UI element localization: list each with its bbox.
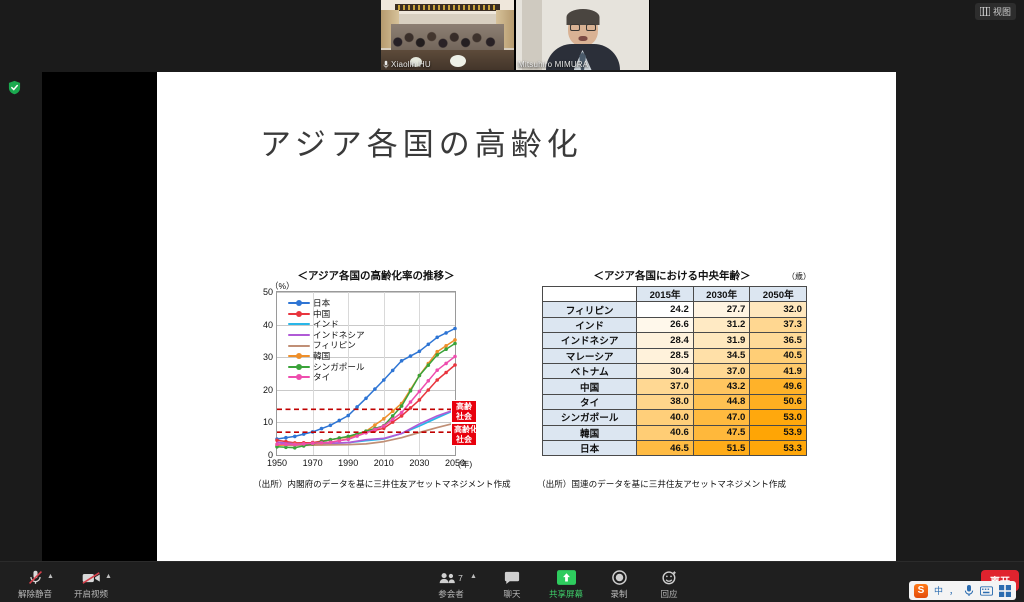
table-col-header: 2015年 bbox=[637, 287, 694, 302]
table-cell-value: 38.0 bbox=[637, 394, 694, 409]
table-cell-value: 34.5 bbox=[693, 348, 750, 363]
aging-rate-chart: ＜アジア各国の高齢化率の推移＞ （%） 01020304050195019701… bbox=[253, 268, 468, 503]
table-unit-label: （歳） bbox=[787, 271, 811, 282]
table-cell-value: 53.0 bbox=[750, 410, 807, 425]
mic-icon[interactable] bbox=[964, 584, 974, 597]
chart-marker bbox=[444, 347, 448, 351]
chart-marker bbox=[435, 368, 439, 372]
table-cell-value: 43.2 bbox=[693, 379, 750, 394]
mic-muted-icon bbox=[383, 60, 389, 69]
chart-marker bbox=[435, 353, 439, 357]
video-tile-0[interactable]: Xiaolin HU bbox=[381, 0, 514, 70]
table-cell-value: 31.2 bbox=[693, 317, 750, 332]
chart-threshold-badge: 高齢社会 bbox=[451, 400, 477, 423]
chart-marker bbox=[311, 442, 315, 446]
sogou-logo-icon: S bbox=[914, 584, 928, 598]
chart-legend-item: インドネシア bbox=[288, 330, 365, 341]
chart-marker bbox=[418, 350, 422, 354]
chart-marker bbox=[435, 350, 439, 354]
shield-check-icon[interactable] bbox=[8, 80, 21, 95]
table-row-label: ベトナム bbox=[543, 363, 637, 378]
table-header-row: 2015年2030年2050年 bbox=[543, 287, 807, 302]
chart-legend-swatch bbox=[288, 366, 310, 368]
table-cell-value: 28.4 bbox=[637, 333, 694, 348]
table-cell-value: 53.3 bbox=[750, 440, 807, 455]
chart-legend-swatch bbox=[288, 313, 310, 315]
chart-marker bbox=[409, 389, 413, 393]
table-cell-value: 36.5 bbox=[750, 333, 807, 348]
chart-marker bbox=[346, 414, 350, 418]
chart-marker bbox=[284, 443, 288, 447]
chart-legend-label: インドネシア bbox=[313, 330, 365, 341]
chart-marker bbox=[453, 363, 457, 367]
table-cell-value: 31.9 bbox=[693, 333, 750, 348]
chart-legend-label: フィリピン bbox=[313, 340, 356, 351]
chart-marker bbox=[400, 411, 404, 415]
chart-marker bbox=[355, 405, 359, 409]
table-col-header: 2030年 bbox=[693, 287, 750, 302]
chart-marker bbox=[409, 400, 413, 404]
chat-button[interactable]: 聊天 bbox=[483, 569, 541, 600]
chat-label: 聊天 bbox=[503, 588, 520, 600]
video-options-caret-icon[interactable]: ▲ bbox=[105, 573, 112, 580]
chart-x-tick: 1970 bbox=[303, 458, 323, 468]
table-cell-value: 49.6 bbox=[750, 379, 807, 394]
table-cell-value: 24.2 bbox=[637, 302, 694, 317]
chart-marker bbox=[382, 424, 386, 428]
chart-y-tick: 20 bbox=[263, 385, 273, 395]
chart-legend-label: タイ bbox=[313, 372, 330, 383]
reactions-label: 回应 bbox=[660, 588, 677, 600]
table-body: フィリピン24.227.732.0インド26.631.237.3インドネシア28… bbox=[543, 302, 807, 456]
video-tile-nameplate: Mitsuhiro MIMURA bbox=[518, 60, 588, 69]
chart-marker bbox=[427, 343, 431, 347]
participants-label: 参会者 bbox=[438, 588, 464, 600]
shared-screen-area[interactable]: アジア各国の高齢化 ＜アジア各国の高齢化率の推移＞ （%） 0102030405… bbox=[42, 72, 896, 561]
start-video-label: 开启视频 bbox=[74, 588, 108, 600]
chart-marker bbox=[293, 435, 297, 439]
record-icon bbox=[612, 570, 627, 585]
share-screen-button[interactable]: 共享屏幕 bbox=[537, 569, 595, 600]
table-row: ベトナム30.437.041.9 bbox=[543, 363, 807, 378]
view-button[interactable]: 视图 bbox=[975, 3, 1016, 20]
table-row: 韓国40.647.553.9 bbox=[543, 425, 807, 440]
table-row-label: タイ bbox=[543, 394, 637, 409]
chart-legend-item: 韓国 bbox=[288, 351, 365, 362]
participants-caret-icon[interactable]: ▲ bbox=[470, 573, 477, 580]
table-cell-value: 40.6 bbox=[637, 425, 694, 440]
table-cell-value: 37.0 bbox=[637, 379, 694, 394]
chart-x-tick: 1950 bbox=[267, 458, 287, 468]
table-heading: ＜アジア各国における中央年齢＞ bbox=[537, 268, 807, 283]
table-cell-value: 27.7 bbox=[693, 302, 750, 317]
table-cell-value: 40.5 bbox=[750, 348, 807, 363]
table-cell-value: 30.4 bbox=[637, 363, 694, 378]
table-row-label: 韓国 bbox=[543, 425, 637, 440]
table-row-label: インドネシア bbox=[543, 333, 637, 348]
chart-marker bbox=[293, 446, 297, 450]
chart-marker bbox=[418, 398, 422, 402]
chart-legend-swatch bbox=[288, 345, 310, 347]
table-row: インドネシア28.431.936.5 bbox=[543, 333, 807, 348]
chart-marker bbox=[329, 441, 333, 445]
chart-legend: 日本中国インドインドネシアフィリピン韓国シンガポールタイ bbox=[288, 298, 365, 383]
chart-marker bbox=[400, 359, 404, 363]
chart-marker bbox=[302, 442, 306, 446]
chart-line-インドネシア bbox=[277, 410, 455, 445]
chart-marker bbox=[453, 342, 457, 346]
table-source-note: （出所）国連のデータを基に三井住友アセットマネジメント作成 bbox=[537, 478, 786, 490]
table-corner-cell bbox=[543, 287, 637, 302]
chart-legend-item: タイ bbox=[288, 372, 365, 383]
table-cell-value: 32.0 bbox=[750, 302, 807, 317]
chart-marker bbox=[400, 404, 404, 408]
table-cell-value: 46.5 bbox=[637, 440, 694, 455]
chart-marker bbox=[435, 378, 439, 382]
video-off-icon bbox=[82, 571, 101, 585]
grid-view-icon bbox=[980, 7, 990, 16]
chart-y-tick: 50 bbox=[263, 287, 273, 297]
chart-marker bbox=[409, 354, 413, 358]
table-cell-value: 26.6 bbox=[637, 317, 694, 332]
chart-legend-label: シンガポール bbox=[313, 362, 365, 373]
chart-marker bbox=[382, 417, 386, 421]
chart-marker bbox=[275, 442, 279, 446]
chart-marker bbox=[391, 369, 395, 373]
table-col-header: 2050年 bbox=[750, 287, 807, 302]
chart-heading: ＜アジア各国の高齢化率の推移＞ bbox=[281, 268, 471, 283]
table-row: フィリピン24.227.732.0 bbox=[543, 302, 807, 317]
table-cell-value: 53.9 bbox=[750, 425, 807, 440]
participants-count: 7 bbox=[458, 573, 463, 583]
chart-legend-item: シンガポール bbox=[288, 362, 365, 373]
chart-marker bbox=[427, 379, 431, 383]
median-age-table-block: ＜アジア各国における中央年齢＞ （歳） 2015年2030年2050年 フィリピ… bbox=[537, 268, 827, 503]
chart-marker bbox=[346, 438, 350, 442]
chart-marker bbox=[453, 338, 457, 342]
chart-legend-item: フィリピン bbox=[288, 340, 365, 351]
video-tile-name: Xiaolin HU bbox=[391, 60, 431, 69]
chart-y-tick: 10 bbox=[263, 417, 273, 427]
chart-marker bbox=[338, 439, 342, 443]
chart-legend-swatch bbox=[288, 355, 310, 357]
table-cell-value: 40.0 bbox=[637, 410, 694, 425]
participants-icon bbox=[439, 572, 456, 584]
chart-x-tick: 2010 bbox=[374, 458, 394, 468]
chat-icon bbox=[504, 571, 520, 585]
table-cell-value: 51.5 bbox=[693, 440, 750, 455]
chart-legend-label: 韓国 bbox=[313, 351, 330, 362]
chart-legend-label: 日本 bbox=[313, 298, 330, 309]
table-cell-value: 37.3 bbox=[750, 317, 807, 332]
chart-marker bbox=[444, 331, 448, 335]
table-row-label: シンガポール bbox=[543, 410, 637, 425]
chart-marker bbox=[444, 371, 448, 375]
table-row: 中国37.043.249.6 bbox=[543, 379, 807, 394]
audio-options-caret-icon[interactable]: ▲ bbox=[47, 573, 54, 580]
chart-marker bbox=[391, 418, 395, 422]
mic-muted-icon bbox=[27, 569, 44, 586]
table-cell-value: 47.0 bbox=[693, 410, 750, 425]
chart-marker bbox=[427, 388, 431, 392]
chart-source-note: （出所）内閣府のデータを基に三井住友アセットマネジメント作成 bbox=[253, 478, 488, 490]
chart-marker bbox=[355, 434, 359, 438]
sogou-ime-bar[interactable]: S 中 ， bbox=[909, 581, 1016, 600]
chart-marker bbox=[293, 443, 297, 447]
chart-marker bbox=[320, 441, 324, 445]
reactions-icon bbox=[662, 570, 677, 585]
chart-plot-area: 01020304050195019701990201020302050(年)高齢… bbox=[276, 291, 456, 456]
chart-x-tick: 1990 bbox=[338, 458, 358, 468]
ime-punctuation-toggle[interactable]: ， bbox=[949, 584, 958, 597]
chart-legend-item: インド bbox=[288, 319, 365, 330]
table-row-label: マレーシア bbox=[543, 348, 637, 363]
chart-marker bbox=[400, 414, 404, 418]
table-row-label: 日本 bbox=[543, 440, 637, 455]
chart-y-tick: 30 bbox=[263, 352, 273, 362]
chart-marker bbox=[364, 397, 368, 401]
table-cell-value: 37.0 bbox=[693, 363, 750, 378]
chart-marker bbox=[373, 387, 377, 391]
table-cell-value: 41.9 bbox=[750, 363, 807, 378]
table-cell-value: 50.6 bbox=[750, 394, 807, 409]
presentation-slide: アジア各国の高齢化 ＜アジア各国の高齢化率の推移＞ （%） 0102030405… bbox=[157, 72, 896, 561]
chart-marker bbox=[373, 428, 377, 432]
table-row: インド26.631.237.3 bbox=[543, 317, 807, 332]
panel-icon[interactable] bbox=[999, 585, 1011, 597]
median-age-table: 2015年2030年2050年 フィリピン24.227.732.0インド26.6… bbox=[542, 286, 807, 456]
table-row: 日本46.551.553.3 bbox=[543, 440, 807, 455]
share-screen-icon bbox=[557, 570, 576, 585]
reactions-button[interactable]: 回应 bbox=[640, 569, 698, 600]
chart-legend-item: 日本 bbox=[288, 298, 365, 309]
table-row-label: 中国 bbox=[543, 379, 637, 394]
chart-marker bbox=[418, 390, 422, 394]
chart-x-unit: (年) bbox=[458, 458, 472, 470]
table-cell-value: 44.8 bbox=[693, 394, 750, 409]
slide-title: アジア各国の高齢化 bbox=[260, 119, 583, 164]
chart-marker bbox=[453, 327, 457, 331]
chart-x-tick: 2030 bbox=[409, 458, 429, 468]
chart-legend-label: インド bbox=[313, 319, 339, 330]
chart-legend-label: 中国 bbox=[313, 309, 330, 320]
table-row: タイ38.044.850.6 bbox=[543, 394, 807, 409]
record-label: 录制 bbox=[610, 588, 627, 600]
chart-legend-item: 中国 bbox=[288, 309, 365, 320]
video-tile-nameplate: Xiaolin HU bbox=[383, 60, 431, 69]
chart-marker bbox=[444, 362, 448, 366]
chart-marker bbox=[453, 355, 457, 359]
chart-marker bbox=[382, 378, 386, 382]
chart-legend-swatch bbox=[288, 376, 310, 378]
chart-marker bbox=[338, 419, 342, 423]
table-cell-value: 28.5 bbox=[637, 348, 694, 363]
table-row-label: インド bbox=[543, 317, 637, 332]
table-row: シンガポール40.047.053.0 bbox=[543, 410, 807, 425]
keyboard-icon[interactable] bbox=[980, 586, 993, 596]
chart-legend-swatch bbox=[288, 323, 310, 325]
table-cell-value: 47.5 bbox=[693, 425, 750, 440]
meeting-toolbar: 解除静音 ▲ 开启视频 ▲ 7 bbox=[0, 561, 1024, 602]
share-screen-label: 共享屏幕 bbox=[549, 588, 583, 600]
chart-legend-swatch bbox=[288, 334, 310, 336]
chart-marker bbox=[284, 436, 288, 440]
chart-y-tick: 40 bbox=[263, 320, 273, 330]
unmute-button[interactable]: 解除静音 bbox=[6, 569, 64, 600]
chart-marker bbox=[320, 427, 324, 431]
video-tile-1[interactable]: Mitsuhiro MIMURA bbox=[516, 0, 649, 70]
chart-marker bbox=[373, 423, 377, 427]
video-tile-name: Mitsuhiro MIMURA bbox=[518, 60, 588, 69]
view-button-label: 视图 bbox=[993, 5, 1011, 18]
table-row: マレーシア28.534.540.5 bbox=[543, 348, 807, 363]
chart-marker bbox=[418, 374, 422, 378]
chart-marker bbox=[329, 424, 333, 428]
video-thumbnail-strip: Xiaolin HU Mitsuhiro MIMURA bbox=[381, 0, 650, 70]
chart-threshold-badge: 高齢化社会 bbox=[451, 423, 477, 446]
unmute-label: 解除静音 bbox=[18, 588, 52, 600]
ime-language-toggle[interactable]: 中 bbox=[934, 584, 943, 597]
chart-legend-swatch bbox=[288, 302, 310, 304]
chart-marker bbox=[444, 344, 448, 348]
chart-marker bbox=[391, 414, 395, 418]
chart-marker bbox=[435, 336, 439, 340]
chart-marker bbox=[427, 363, 431, 367]
zoom-meeting-window: Xiaolin HU Mitsuhiro MIMURA 视图 bbox=[0, 0, 1024, 602]
table-row-label: フィリピン bbox=[543, 302, 637, 317]
